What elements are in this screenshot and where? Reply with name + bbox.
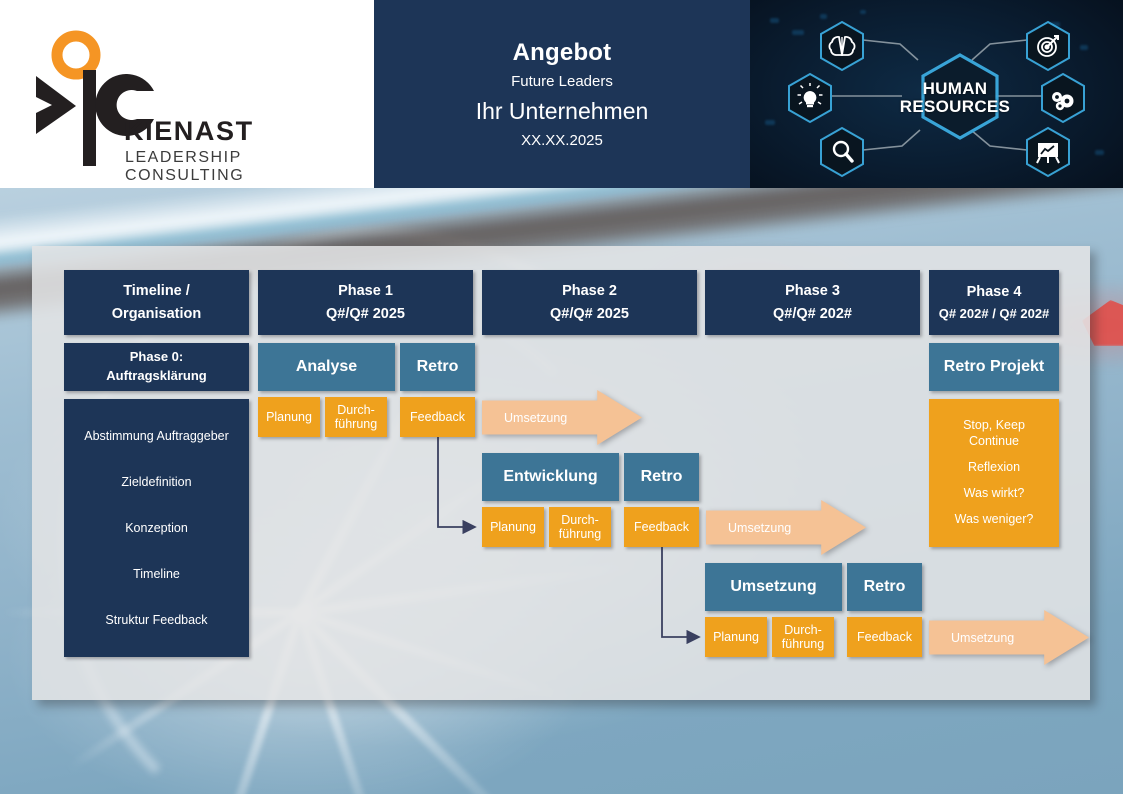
logo-brand-text: KIENAST xyxy=(124,116,254,147)
phase-1-umsetzung-arrow-label: Umsetzung xyxy=(504,411,567,425)
column-header-phase-3-line2: Q#/Q# 202# xyxy=(773,303,852,325)
hexagon-magnifier xyxy=(821,128,863,176)
timeline-panel: Timeline / Organisation Phase 1 Q#/Q# 20… xyxy=(32,246,1090,700)
title-line-program: Future Leaders xyxy=(511,68,613,97)
phase-3-stage-label: Umsetzung xyxy=(705,563,842,611)
phase0-item-list: Abstimmung Auftraggeber Zieldefinition K… xyxy=(64,399,249,657)
phase-4-item: Stop, Keep Continue xyxy=(963,418,1025,449)
column-header-phase-1-line2: Q#/Q# 2025 xyxy=(326,303,405,325)
phase0-item: Struktur Feedback xyxy=(105,613,207,627)
column-header-timeline-line1: Timeline / xyxy=(112,280,201,302)
logo-block: KIENAST LEADERSHIP CONSULTING xyxy=(0,0,374,188)
phase-4-item: Reflexion xyxy=(968,460,1020,476)
phase-1-step-planung-line1: Planung xyxy=(266,410,312,424)
hero-image: HUMAN RESOURCES xyxy=(750,0,1123,188)
title-line-offer: Angebot xyxy=(513,38,612,68)
phase-1-step-durchfuehrung-line2: führung xyxy=(335,417,377,431)
phase-1-step-durchfuehrung: Durch- führung xyxy=(325,397,387,437)
column-header-phase-1-line1: Phase 1 xyxy=(326,280,405,302)
phase-2-step-planung: Planung xyxy=(482,507,544,547)
column-header-phase-2-line1: Phase 2 xyxy=(550,280,629,302)
phase-1-step-feedback: Feedback xyxy=(400,397,475,437)
phase-2-step-feedback: Feedback xyxy=(624,507,699,547)
column-header-timeline: Timeline / Organisation xyxy=(64,270,249,335)
phase-1-step-durchfuehrung-line1: Durch- xyxy=(335,403,377,417)
column-header-phase-4-line1: Phase 4 xyxy=(939,281,1050,303)
phase-3-retro-label: Retro xyxy=(847,563,922,611)
phase-2-stage-label: Entwicklung xyxy=(482,453,619,501)
phase-2-step-durchfuehrung: Durch- führung xyxy=(549,507,611,547)
phase-2-umsetzung-arrow: Umsetzung xyxy=(706,500,866,555)
phase-3-step-feedback-line1: Feedback xyxy=(857,630,912,644)
phase-1-step-planung: Planung xyxy=(258,397,320,437)
phase-3-step-planung-line1: Planung xyxy=(713,630,759,644)
phase-4-item: Was wirkt? xyxy=(964,486,1025,502)
phase-3-step-durchfuehrung-line2: führung xyxy=(782,637,824,651)
hr-center-label-1: HUMAN xyxy=(900,80,1010,97)
phase-4-item-line1: Stop, Keep xyxy=(963,418,1025,434)
title-line-date: XX.XX.2025 xyxy=(521,126,603,156)
column-header-phase-1: Phase 1 Q#/Q# 2025 xyxy=(258,270,473,335)
phase0-title-line2: Auftragsklärung xyxy=(106,367,206,386)
phase-2-step-durchfuehrung-line2: führung xyxy=(559,527,601,541)
phase-3-umsetzung-arrow-label: Umsetzung xyxy=(951,631,1014,645)
slide-canvas: KIENAST LEADERSHIP CONSULTING Angebot Fu… xyxy=(0,0,1123,794)
column-header-phase-3: Phase 3 Q#/Q# 202# xyxy=(705,270,920,335)
phase-3-umsetzung-arrow: Umsetzung xyxy=(929,610,1089,665)
hr-center-label-2: RESOURCES xyxy=(890,98,1020,115)
phase-2-step-planung-line1: Planung xyxy=(490,520,536,534)
phase-2-step-feedback-line1: Feedback xyxy=(634,520,689,534)
logo-tagline-text: LEADERSHIP CONSULTING xyxy=(125,149,360,185)
kienast-logo: KIENAST LEADERSHIP CONSULTING xyxy=(14,16,360,174)
phase0-title-line1: Phase 0: xyxy=(106,348,206,367)
phase-4-item-line2: Continue xyxy=(963,434,1025,450)
phase0-item: Timeline xyxy=(133,567,180,581)
connector-phase2-to-phase3 xyxy=(662,547,699,637)
phase-3-step-feedback: Feedback xyxy=(847,617,922,657)
phase0-item: Abstimmung Auftraggeber xyxy=(84,429,229,443)
column-header-timeline-line2: Organisation xyxy=(112,303,201,325)
column-header-phase-3-line1: Phase 3 xyxy=(773,280,852,302)
phase0-title: Phase 0: Auftragsklärung xyxy=(64,343,249,391)
phase-2-umsetzung-arrow-label: Umsetzung xyxy=(728,521,791,535)
phase-1-step-feedback-line1: Feedback xyxy=(410,410,465,424)
column-header-phase-2-line2: Q#/Q# 2025 xyxy=(550,303,629,325)
phase-4-item: Was weniger? xyxy=(955,512,1034,528)
phase0-item: Konzeption xyxy=(125,521,188,535)
connector-phase1-to-phase2 xyxy=(438,437,475,527)
phase0-item: Zieldefinition xyxy=(121,475,191,489)
phase-1-stage-label: Analyse xyxy=(258,343,395,391)
slide-header: KIENAST LEADERSHIP CONSULTING Angebot Fu… xyxy=(0,0,1123,188)
column-header-phase-2: Phase 2 Q#/Q# 2025 xyxy=(482,270,697,335)
phase-1-umsetzung-arrow: Umsetzung xyxy=(482,390,642,445)
phase-3-step-planung: Planung xyxy=(705,617,767,657)
title-block: Angebot Future Leaders Ihr Unternehmen X… xyxy=(374,0,750,188)
phase-1-retro-label: Retro xyxy=(400,343,475,391)
phase-2-step-durchfuehrung-line1: Durch- xyxy=(559,513,601,527)
phase-3-step-durchfuehrung: Durch- führung xyxy=(772,617,834,657)
phase-2-retro-label: Retro xyxy=(624,453,699,501)
title-line-company: Ihr Unternehmen xyxy=(476,97,649,127)
column-header-phase-4-line2: Q# 202# / Q# 202# xyxy=(939,304,1050,324)
column-header-phase-4: Phase 4 Q# 202# / Q# 202# xyxy=(929,270,1059,335)
phase-4-item-list: Stop, Keep Continue Reflexion Was wirkt?… xyxy=(929,399,1059,547)
phase-3-step-durchfuehrung-line1: Durch- xyxy=(782,623,824,637)
phase-4-stage-label: Retro Projekt xyxy=(929,343,1059,391)
